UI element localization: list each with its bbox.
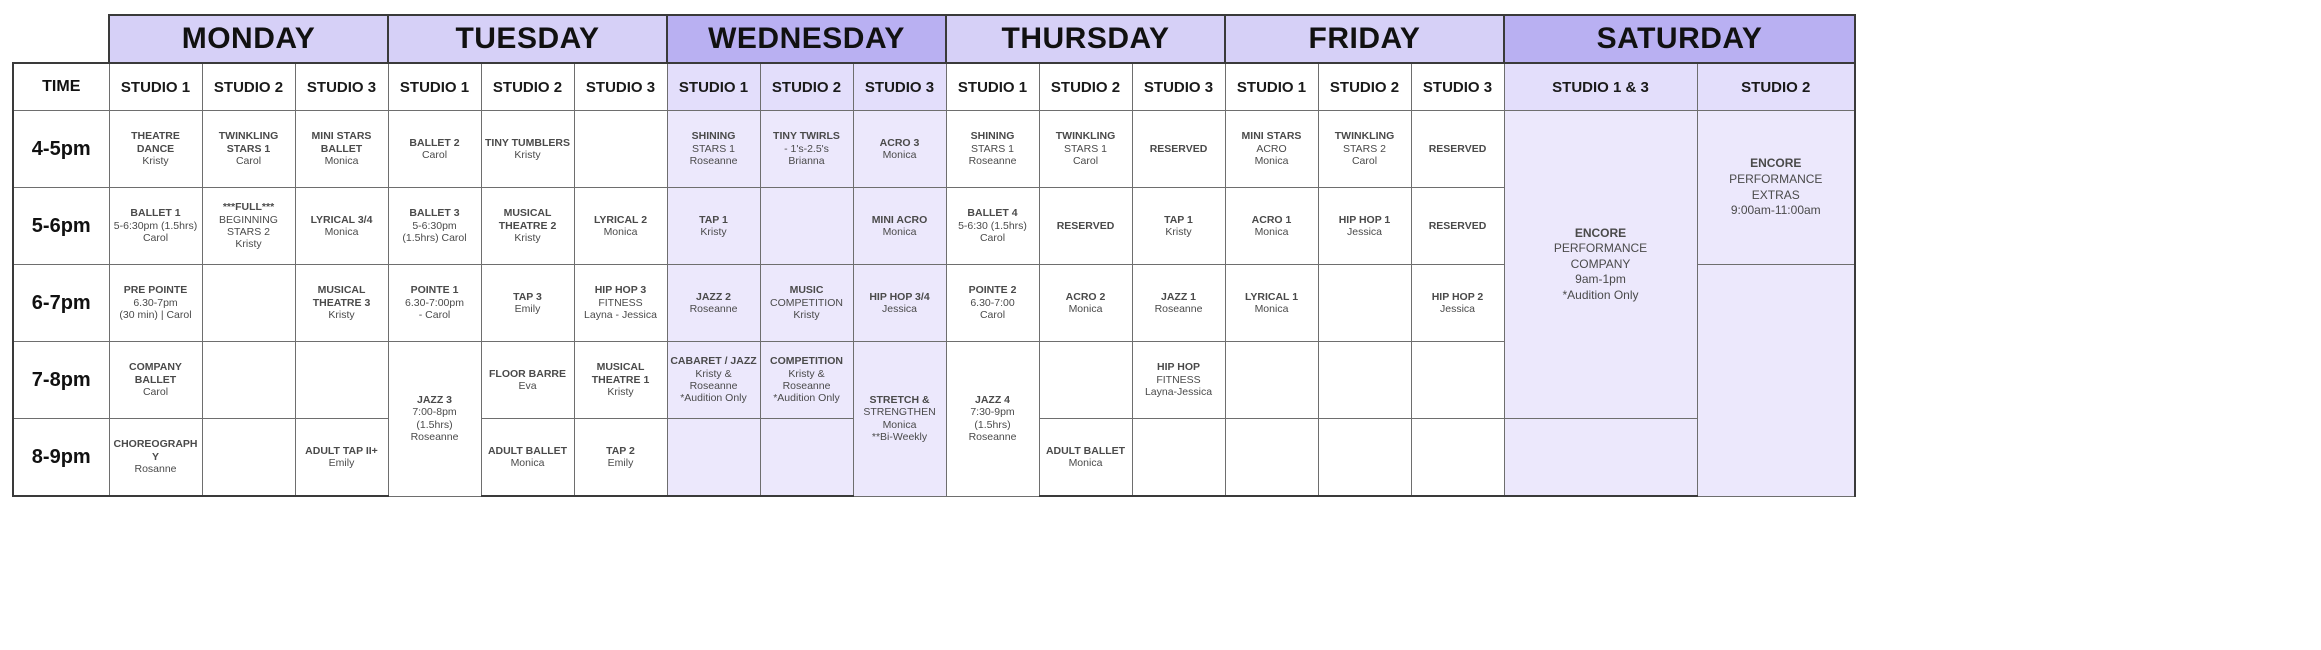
class-name: TAP 1 <box>1135 214 1223 226</box>
studio-header-thu-1: STUDIO 1 <box>946 63 1039 111</box>
class-detail: Roseanne <box>763 380 851 392</box>
class-detail: PERFORMANCE <box>1700 172 1853 188</box>
class-detail: **Bi-Weekly <box>856 431 944 443</box>
class-name: HIP HOP 3 <box>577 284 665 296</box>
class-name: LYRICAL 3/4 <box>298 214 386 226</box>
class-detail: Carol <box>949 232 1037 244</box>
class-detail: Rosanne <box>112 463 200 475</box>
class-schedule-table: MONDAY TUESDAY WEDNESDAY THURSDAY FRIDAY… <box>12 14 1856 497</box>
class-detail: (1.5hrs) <box>949 419 1037 431</box>
class-cell[interactable]: POINTE 16.30-7:00pm- Carol <box>388 265 481 342</box>
day-header-saturday: SATURDAY <box>1504 15 1855 63</box>
class-cell[interactable]: STRETCH &STRENGTHENMonica**Bi-Weekly <box>853 342 946 497</box>
class-name: TWINKLING STARS 1 <box>205 130 293 155</box>
class-cell[interactable]: RESERVED <box>1411 111 1504 188</box>
day-header-row: MONDAY TUESDAY WEDNESDAY THURSDAY FRIDAY… <box>13 15 1855 63</box>
studio-header-tue-2: STUDIO 2 <box>481 63 574 111</box>
class-detail: EXTRAS <box>1700 188 1853 204</box>
studio-header-thu-2: STUDIO 2 <box>1039 63 1132 111</box>
class-cell[interactable]: THEATRE DANCEKristy <box>109 111 202 188</box>
class-name: TWINKLING <box>1042 130 1130 142</box>
class-detail: (1.5hrs) <box>391 419 479 431</box>
class-detail: Monica <box>856 226 944 238</box>
class-cell[interactable]: COMPETITIONKristy &Roseanne*Audition Onl… <box>760 342 853 419</box>
class-name: ACRO 1 <box>1228 214 1316 226</box>
class-name: JAZZ 2 <box>670 291 758 303</box>
class-name: RESERVED <box>1135 143 1223 155</box>
class-detail: Roseanne <box>670 303 758 315</box>
studio-header-wed-1: STUDIO 1 <box>667 63 760 111</box>
corner-spacer <box>13 15 109 63</box>
class-detail: Kristy <box>484 149 572 161</box>
class-cell[interactable] <box>1132 419 1225 497</box>
class-detail: 6.30-7:00pm <box>391 297 479 309</box>
class-cell[interactable]: PRE POINTE6.30-7pm(30 min) | Carol <box>109 265 202 342</box>
class-detail: Monica <box>1042 457 1130 469</box>
class-cell[interactable]: CHOREOGRAPHYRosanne <box>109 419 202 497</box>
class-cell[interactable]: BALLET 15-6:30pm (1.5hrs)Carol <box>109 188 202 265</box>
class-detail: Emily <box>577 457 665 469</box>
class-cell[interactable]: TWINKLINGSTARS 2Carol <box>1318 111 1411 188</box>
time-slot-label: 4-5pm <box>13 111 109 188</box>
class-detail: - Carol <box>391 309 479 321</box>
studio-header-wed-2: STUDIO 2 <box>760 63 853 111</box>
class-detail: Kristy <box>577 386 665 398</box>
class-detail: Monica <box>856 149 944 161</box>
class-detail: Kristy <box>484 232 572 244</box>
time-column-header: TIME <box>13 63 109 111</box>
class-name: BALLET 2 <box>391 137 479 149</box>
class-name: RESERVED <box>1414 143 1502 155</box>
class-detail: *Audition Only <box>670 392 758 404</box>
class-name: MINI STARS <box>1228 130 1316 142</box>
class-name: COMPANY BALLET <box>112 361 200 386</box>
class-name: LYRICAL 2 <box>577 214 665 226</box>
class-name: ACRO 2 <box>1042 291 1130 303</box>
schedule-row-4-5pm: 4-5pm THEATRE DANCEKristy TWINKLING STAR… <box>13 111 1855 188</box>
class-detail: Kristy <box>763 309 851 321</box>
class-cell[interactable]: ACRO 1Monica <box>1225 188 1318 265</box>
class-name: MINI ACRO <box>856 214 944 226</box>
class-cell[interactable]: LYRICAL 1Monica <box>1225 265 1318 342</box>
studio-header-thu-3: STUDIO 3 <box>1132 63 1225 111</box>
class-cell[interactable]: ADULT BALLETMonica <box>1039 419 1132 497</box>
class-name: TAP 1 <box>670 214 758 226</box>
class-cell[interactable]: MINI STARS BALLETMonica <box>295 111 388 188</box>
class-name: THEATRE DANCE <box>112 130 200 155</box>
class-detail: STARS 2 <box>1321 143 1409 155</box>
class-detail: BEGINNING STARS 2 <box>205 214 293 239</box>
day-header-monday: MONDAY <box>109 15 388 63</box>
class-cell-empty[interactable] <box>1697 265 1855 497</box>
class-cell[interactable]: ADULT TAP II+Emily <box>295 419 388 497</box>
class-name: ENCORE <box>1507 226 1695 242</box>
class-cell[interactable]: BALLET 45-6:30 (1.5hrs)Carol <box>946 188 1039 265</box>
class-name: ACRO 3 <box>856 137 944 149</box>
class-detail: (1.5hrs) Carol <box>391 232 479 244</box>
class-name: ENCORE <box>1700 156 1853 172</box>
class-detail: Jessica <box>1321 226 1409 238</box>
class-detail: Carol <box>205 155 293 167</box>
class-name: FLOOR BARRE <box>484 368 572 380</box>
class-name: JAZZ 1 <box>1135 291 1223 303</box>
class-cell[interactable] <box>760 419 853 497</box>
class-detail: - 1's-2.5's <box>763 143 851 155</box>
class-name: LYRICAL 1 <box>1228 291 1316 303</box>
class-name: HIP HOP 1 <box>1321 214 1409 226</box>
class-detail: Jessica <box>856 303 944 315</box>
class-cell[interactable]: MUSICAL THEATRE 2Kristy <box>481 188 574 265</box>
class-detail: Monica <box>1042 303 1130 315</box>
class-name: MUSIC <box>763 284 851 296</box>
class-cell[interactable]: TWINKLINGSTARS 1Carol <box>1039 111 1132 188</box>
class-cell[interactable] <box>1318 419 1411 497</box>
day-header-tuesday: TUESDAY <box>388 15 667 63</box>
studio-header-fri-3: STUDIO 3 <box>1411 63 1504 111</box>
class-cell[interactable]: RESERVED <box>1132 111 1225 188</box>
class-cell[interactable] <box>1318 342 1411 419</box>
class-detail: ACRO <box>1228 143 1316 155</box>
schedule-page: MONDAY TUESDAY WEDNESDAY THURSDAY FRIDAY… <box>0 0 2321 650</box>
class-name: TAP 2 <box>577 445 665 457</box>
class-cell[interactable]: ACRO 3Monica <box>853 111 946 188</box>
class-cell[interactable]: TINY TWIRLS- 1's-2.5'sBrianna <box>760 111 853 188</box>
class-name: BALLET 3 <box>391 207 479 219</box>
studio-header-sat-2: STUDIO 2 <box>1697 63 1855 111</box>
class-detail: STARS 1 <box>670 143 758 155</box>
class-detail: Kristy <box>298 309 386 321</box>
studio-header-row: TIME STUDIO 1 STUDIO 2 STUDIO 3 STUDIO 1… <box>13 63 1855 111</box>
class-name: ADULT BALLET <box>484 445 572 457</box>
class-cell[interactable]: FLOOR BARREEva <box>481 342 574 419</box>
class-cell[interactable]: MUSICAL THEATRE 3Kristy <box>295 265 388 342</box>
class-cell[interactable]: HIP HOP 1Jessica <box>1318 188 1411 265</box>
class-detail: COMPETITION <box>763 297 851 309</box>
studio-header-tue-1: STUDIO 1 <box>388 63 481 111</box>
class-name: SHINING <box>949 130 1037 142</box>
class-detail: Monica <box>1228 155 1316 167</box>
class-cell[interactable]: BALLET 2Carol <box>388 111 481 188</box>
class-detail: Kristy <box>112 155 200 167</box>
class-detail: Monica <box>1228 226 1316 238</box>
class-cell[interactable]: RESERVED <box>1039 188 1132 265</box>
class-cell[interactable]: ACRO 2Monica <box>1039 265 1132 342</box>
day-header-friday: FRIDAY <box>1225 15 1504 63</box>
class-cell-encore-extras[interactable]: ENCOREPERFORMANCEEXTRAS9:00am-11:00am <box>1697 111 1855 265</box>
class-name: STRETCH & <box>856 394 944 406</box>
time-slot-label: 7-8pm <box>13 342 109 419</box>
class-detail: STARS 1 <box>1042 143 1130 155</box>
class-cell[interactable]: HIP HOPFITNESSLayna-Jessica <box>1132 342 1225 419</box>
studio-header-mon-2: STUDIO 2 <box>202 63 295 111</box>
class-cell[interactable]: SHININGSTARS 1Roseanne <box>946 111 1039 188</box>
class-name: PRE POINTE <box>112 284 200 296</box>
class-detail: Kristy & <box>763 368 851 380</box>
class-detail: Emily <box>484 303 572 315</box>
class-cell[interactable]: TINY TUMBLERSKristy <box>481 111 574 188</box>
class-detail: 6.30-7:00 <box>949 297 1037 309</box>
class-cell[interactable] <box>760 188 853 265</box>
class-detail: 7:00-8pm <box>391 406 479 418</box>
class-cell[interactable]: MUSICAL THEATRE 1Kristy <box>574 342 667 419</box>
class-name: SHINING <box>670 130 758 142</box>
class-name: TINY TWIRLS <box>763 130 851 142</box>
class-cell[interactable] <box>202 419 295 497</box>
class-cell[interactable]: HIP HOP 3FITNESSLayna - Jessica <box>574 265 667 342</box>
class-cell[interactable]: TAP 2Emily <box>574 419 667 497</box>
class-detail: Carol <box>1042 155 1130 167</box>
class-name: COMPETITION <box>763 355 851 367</box>
class-detail: FITNESS <box>1135 374 1223 386</box>
class-name: MUSICAL THEATRE 3 <box>298 284 386 309</box>
class-cell[interactable]: HIP HOP 3/4Jessica <box>853 265 946 342</box>
class-name: BALLET 4 <box>949 207 1037 219</box>
class-detail: Jessica <box>1414 303 1502 315</box>
class-cell[interactable]: TAP 3Emily <box>481 265 574 342</box>
class-detail: Carol <box>112 232 200 244</box>
class-cell[interactable] <box>1039 342 1132 419</box>
class-detail: Brianna <box>763 155 851 167</box>
studio-header-tue-3: STUDIO 3 <box>574 63 667 111</box>
class-name: ***FULL*** <box>205 201 293 213</box>
studio-header-fri-2: STUDIO 2 <box>1318 63 1411 111</box>
class-name: MUSICAL THEATRE 1 <box>577 361 665 386</box>
class-detail: COMPANY <box>1507 257 1695 273</box>
class-cell[interactable]: COMPANY BALLETCarol <box>109 342 202 419</box>
class-name: MINI STARS BALLET <box>298 130 386 155</box>
class-cell[interactable] <box>1318 265 1411 342</box>
class-detail: Monica <box>577 226 665 238</box>
class-name: ADULT BALLET <box>1042 445 1130 457</box>
class-cell[interactable]: MINI STARSACROMonica <box>1225 111 1318 188</box>
class-name: RESERVED <box>1414 220 1502 232</box>
class-cell[interactable]: JAZZ 37:00-8pm(1.5hrs)Roseanne <box>388 342 481 497</box>
class-detail: Carol <box>1321 155 1409 167</box>
studio-header-sat-1: STUDIO 1 & 3 <box>1504 63 1697 111</box>
class-name: ADULT TAP II+ <box>298 445 386 457</box>
class-name: BALLET 1 <box>112 207 200 219</box>
studio-header-mon-3: STUDIO 3 <box>295 63 388 111</box>
class-detail: Roseanne <box>670 155 758 167</box>
class-name: CABARET / JAZZ <box>670 355 758 367</box>
class-detail: Roseanne <box>949 155 1037 167</box>
class-detail: Roseanne <box>949 431 1037 443</box>
class-name: POINTE 1 <box>391 284 479 296</box>
class-cell[interactable]: SHININGSTARS 1Roseanne <box>667 111 760 188</box>
time-slot-label: 8-9pm <box>13 419 109 497</box>
class-cell[interactable] <box>1225 419 1318 497</box>
class-cell[interactable]: ***FULL***BEGINNING STARS 2Kristy <box>202 188 295 265</box>
class-name: TAP 3 <box>484 291 572 303</box>
class-detail: Layna-Jessica <box>1135 386 1223 398</box>
class-cell[interactable] <box>202 265 295 342</box>
class-detail: Kristy <box>670 226 758 238</box>
time-slot-label: 5-6pm <box>13 188 109 265</box>
class-detail: *Audition Only <box>763 392 851 404</box>
class-cell[interactable]: MINI ACROMonica <box>853 188 946 265</box>
class-detail: Roseanne <box>670 380 758 392</box>
class-name: CHOREOGRAPHY <box>112 438 200 463</box>
class-cell[interactable] <box>667 419 760 497</box>
class-detail: PERFORMANCE <box>1507 241 1695 257</box>
class-detail: Kristy & <box>670 368 758 380</box>
time-slot-label: 6-7pm <box>13 265 109 342</box>
class-cell[interactable]: TAP 1Kristy <box>667 188 760 265</box>
class-detail: Monica <box>856 419 944 431</box>
class-detail: 7:30-9pm <box>949 406 1037 418</box>
class-cell[interactable]: LYRICAL 3/4Monica <box>295 188 388 265</box>
class-cell[interactable]: ADULT BALLETMonica <box>481 419 574 497</box>
studio-header-wed-3: STUDIO 3 <box>853 63 946 111</box>
day-header-thursday: THURSDAY <box>946 15 1225 63</box>
class-name: JAZZ 4 <box>949 394 1037 406</box>
class-detail: 6.30-7pm <box>112 297 200 309</box>
class-detail: Monica <box>298 155 386 167</box>
class-name: MUSICAL THEATRE 2 <box>484 207 572 232</box>
class-detail: (30 min) | Carol <box>112 309 200 321</box>
class-detail: Kristy <box>1135 226 1223 238</box>
class-cell-empty[interactable] <box>1504 419 1697 497</box>
class-detail: STARS 1 <box>949 143 1037 155</box>
class-cell[interactable]: BALLET 35-6:30pm(1.5hrs) Carol <box>388 188 481 265</box>
class-detail: 5-6:30pm <box>391 220 479 232</box>
class-cell[interactable]: RESERVED <box>1411 188 1504 265</box>
class-detail: 9:00am-11:00am <box>1700 203 1853 219</box>
studio-header-fri-1: STUDIO 1 <box>1225 63 1318 111</box>
class-cell[interactable] <box>295 342 388 419</box>
class-detail: 9am-1pm <box>1507 272 1695 288</box>
class-detail: Monica <box>1228 303 1316 315</box>
class-name: HIP HOP <box>1135 361 1223 373</box>
class-cell[interactable] <box>1411 419 1504 497</box>
class-cell[interactable]: JAZZ 2Roseanne <box>667 265 760 342</box>
class-name: JAZZ 3 <box>391 394 479 406</box>
class-detail: Carol <box>949 309 1037 321</box>
class-detail: 5-6:30pm (1.5hrs) <box>112 220 200 232</box>
class-name: RESERVED <box>1042 220 1130 232</box>
class-cell[interactable]: HIP HOP 2Jessica <box>1411 265 1504 342</box>
class-detail: 5-6:30 (1.5hrs) <box>949 220 1037 232</box>
class-detail: Layna - Jessica <box>577 309 665 321</box>
class-cell[interactable] <box>202 342 295 419</box>
class-cell[interactable]: MUSICCOMPETITIONKristy <box>760 265 853 342</box>
class-name: HIP HOP 3/4 <box>856 291 944 303</box>
class-detail: FITNESS <box>577 297 665 309</box>
class-cell[interactable] <box>1411 342 1504 419</box>
class-cell[interactable] <box>1225 342 1318 419</box>
class-cell[interactable]: JAZZ 47:30-9pm(1.5hrs)Roseanne <box>946 342 1039 497</box>
class-name: TWINKLING <box>1321 130 1409 142</box>
day-header-wednesday: WEDNESDAY <box>667 15 946 63</box>
class-cell[interactable]: LYRICAL 2Monica <box>574 188 667 265</box>
class-name: HIP HOP 2 <box>1414 291 1502 303</box>
class-detail: Monica <box>298 226 386 238</box>
class-cell[interactable]: TWINKLING STARS 1Carol <box>202 111 295 188</box>
class-detail: Roseanne <box>391 431 479 443</box>
class-detail: STRENGTHEN <box>856 406 944 418</box>
class-cell-encore-company[interactable]: ENCOREPERFORMANCECOMPANY9am-1pm*Audition… <box>1504 111 1697 419</box>
class-detail: Monica <box>484 457 572 469</box>
class-detail: Eva <box>484 380 572 392</box>
class-cell[interactable]: TAP 1Kristy <box>1132 188 1225 265</box>
class-cell[interactable]: JAZZ 1Roseanne <box>1132 265 1225 342</box>
class-detail: Roseanne <box>1135 303 1223 315</box>
class-detail: Carol <box>391 149 479 161</box>
class-cell[interactable]: POINTE 26.30-7:00Carol <box>946 265 1039 342</box>
studio-header-mon-1: STUDIO 1 <box>109 63 202 111</box>
class-detail: *Audition Only <box>1507 288 1695 304</box>
class-detail: Carol <box>112 386 200 398</box>
class-detail: Emily <box>298 457 386 469</box>
class-cell[interactable] <box>574 111 667 188</box>
class-name: POINTE 2 <box>949 284 1037 296</box>
class-name: TINY TUMBLERS <box>484 137 572 149</box>
class-detail: Kristy <box>205 238 293 250</box>
class-cell[interactable]: CABARET / JAZZKristy &Roseanne*Audition … <box>667 342 760 419</box>
